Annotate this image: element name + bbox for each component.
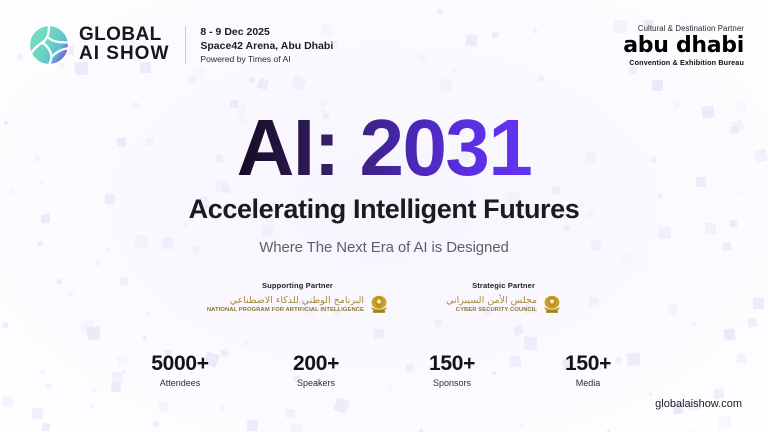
hero-tagline: Where The Next Era of AI is Designed bbox=[0, 239, 768, 256]
decorative-square bbox=[373, 328, 384, 339]
stat-attendees-label: Attendees bbox=[148, 378, 212, 388]
brand-wordmark: GLOBAL AI SHOW bbox=[79, 26, 169, 63]
decorative-square bbox=[242, 340, 247, 345]
stat-attendees-value: 5000+ bbox=[148, 352, 212, 375]
decorative-square bbox=[193, 67, 205, 79]
stat-media-value: 150+ bbox=[556, 352, 620, 375]
event-dates: 8 - 9 Dec 2025 bbox=[200, 25, 333, 39]
brand-wordmark-line2: AI SHOW bbox=[79, 45, 169, 64]
stat-speakers-value: 200+ bbox=[284, 352, 348, 375]
decorative-square bbox=[81, 321, 95, 335]
cultural-partner-caption: Cultural & Destination Partner bbox=[623, 24, 744, 33]
decorative-square bbox=[2, 323, 7, 328]
decorative-square bbox=[2, 395, 14, 407]
header: GLOBAL AI SHOW 8 - 9 Dec 2025 Space42 Ar… bbox=[28, 24, 744, 67]
cultural-destination-partner: Cultural & Destination Partner abu dhabi… bbox=[623, 24, 744, 67]
event-powered-by: Powered by Times of AI bbox=[200, 54, 333, 66]
strategic-partner-caption: Strategic Partner bbox=[446, 281, 561, 290]
website-url[interactable]: globalaishow.com bbox=[655, 398, 742, 410]
decorative-square bbox=[143, 336, 147, 340]
decorative-square bbox=[454, 69, 457, 72]
decorative-square bbox=[518, 423, 524, 429]
decorative-square bbox=[16, 53, 23, 60]
decorative-square bbox=[219, 405, 226, 412]
decorative-square bbox=[189, 75, 197, 83]
stat-attendees: 5000+ Attendees bbox=[148, 352, 212, 388]
decorative-square bbox=[290, 424, 300, 432]
decorative-square bbox=[86, 327, 100, 341]
decorative-square bbox=[537, 76, 543, 82]
decorative-square bbox=[32, 408, 44, 420]
stat-sponsors-label: Sponsors bbox=[420, 378, 484, 388]
decorative-square bbox=[690, 321, 695, 326]
decorative-square bbox=[747, 317, 758, 328]
decorative-square bbox=[649, 393, 652, 396]
decorative-square bbox=[723, 328, 735, 340]
stat-media: 150+ Media bbox=[556, 352, 620, 388]
event-info: 8 - 9 Dec 2025 Space42 Arena, Abu Dhabi … bbox=[200, 25, 333, 66]
abu-dhabi-wordmark: abu dhabi bbox=[623, 34, 744, 57]
uae-falcon-emblem-icon bbox=[370, 294, 388, 315]
stat-speakers-label: Speakers bbox=[284, 378, 348, 388]
decorative-square bbox=[246, 419, 258, 431]
decorative-square bbox=[153, 421, 160, 428]
decorative-square bbox=[286, 409, 295, 418]
stat-sponsors: 150+ Sponsors bbox=[420, 352, 484, 388]
decorative-square bbox=[523, 336, 537, 350]
decorative-square bbox=[42, 423, 51, 432]
decorative-square bbox=[513, 326, 523, 336]
header-divider bbox=[185, 26, 186, 64]
uae-falcon-emblem-icon bbox=[543, 294, 561, 315]
partner-strip: Supporting Partner البرنامج الوطني للذكا… bbox=[0, 281, 768, 315]
abu-dhabi-subtitle: Convention & Exhibition Bureau bbox=[623, 58, 744, 67]
poster-canvas: GLOBAL AI SHOW 8 - 9 Dec 2025 Space42 Ar… bbox=[0, 0, 768, 432]
decorative-square bbox=[419, 429, 423, 432]
decorative-square bbox=[440, 78, 453, 91]
decorative-square bbox=[291, 75, 306, 90]
decorative-square bbox=[92, 388, 97, 393]
strategic-partner-arabic: مجلس الأمن السيبراني bbox=[446, 296, 537, 307]
decorative-square bbox=[157, 400, 170, 413]
hero-subtitle: Accelerating Intelligent Futures bbox=[0, 194, 768, 225]
decorative-square bbox=[652, 80, 663, 91]
strategic-partner-block: Strategic Partner مجلس الأمن السيبراني C… bbox=[446, 281, 561, 315]
stat-sponsors-value: 150+ bbox=[420, 352, 484, 375]
event-venue: Space42 Arena, Abu Dhabi bbox=[200, 39, 333, 53]
decorative-square bbox=[638, 265, 643, 270]
strategic-partner-english: CYBER SECURITY COUNCIL bbox=[446, 307, 537, 313]
brand-lockup[interactable]: GLOBAL AI SHOW 8 - 9 Dec 2025 Space42 Ar… bbox=[28, 24, 333, 66]
supporting-partner-block: Supporting Partner البرنامج الوطني للذكا… bbox=[207, 281, 388, 315]
decorative-square bbox=[434, 318, 443, 327]
decorative-square bbox=[334, 397, 350, 413]
stat-media-label: Media bbox=[556, 378, 620, 388]
supporting-partner-english: NATIONAL PROGRAM FOR ARTIFICIAL INTELLIG… bbox=[207, 307, 364, 313]
decorative-square bbox=[436, 9, 443, 16]
supporting-partner-caption: Supporting Partner bbox=[207, 281, 388, 290]
decorative-square bbox=[90, 403, 96, 409]
decorative-square bbox=[629, 66, 637, 74]
hero-section: AI: 2031 Accelerating Intelligent Future… bbox=[0, 108, 768, 256]
stat-speakers: 200+ Speakers bbox=[284, 352, 348, 388]
decorative-square bbox=[718, 416, 731, 429]
supporting-partner-arabic: البرنامج الوطني للذكاء الاصطناعي bbox=[207, 296, 364, 307]
decorative-square bbox=[95, 261, 100, 266]
page-title: AI: 2031 bbox=[237, 108, 532, 188]
decorative-square bbox=[248, 77, 254, 83]
global-ai-show-globe-icon bbox=[28, 24, 70, 66]
decorative-square bbox=[256, 78, 268, 90]
stats-row: 5000+ Attendees 200+ Speakers 150+ Spons… bbox=[0, 352, 768, 388]
